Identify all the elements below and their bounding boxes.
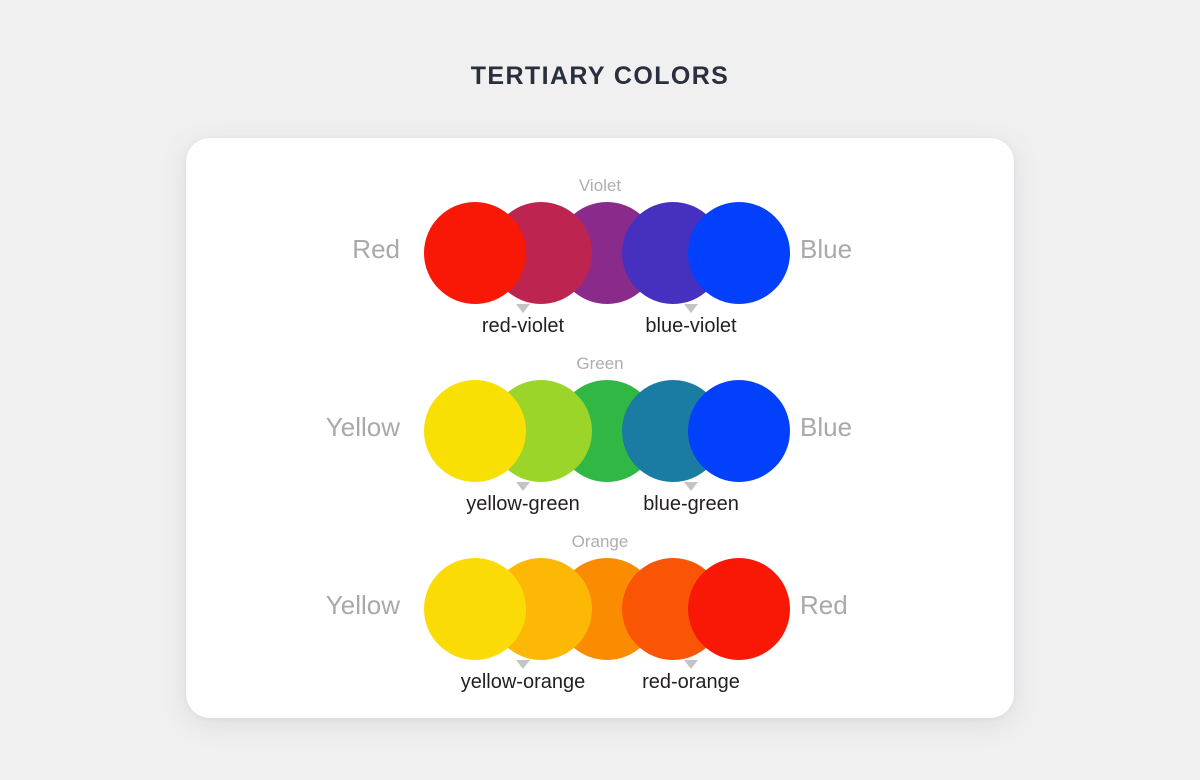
color-wheel-card: Violet Red Blue red-violet blue-violet G… [186, 138, 1014, 718]
callout-label-red-orange: red-orange [576, 671, 806, 694]
swatch-blue[interactable] [688, 202, 790, 304]
arrow-down-icon [516, 660, 530, 669]
secondary-label-orange: Orange [186, 532, 1014, 552]
primary-label-right-blue: Blue [800, 412, 852, 443]
tertiary-row-green: Green Yellow Blue yellow-green blue-gree… [186, 332, 1014, 512]
primary-label-left-yellow: Yellow [326, 590, 400, 621]
primary-label-right-red: Red [800, 590, 848, 621]
arrow-down-icon [516, 304, 530, 313]
swatch-red[interactable] [424, 202, 526, 304]
secondary-label-violet: Violet [186, 176, 1014, 196]
swatch-yellow[interactable] [424, 558, 526, 660]
primary-label-left-yellow: Yellow [326, 412, 400, 443]
arrow-down-icon [684, 304, 698, 313]
tertiary-row-violet: Violet Red Blue red-violet blue-violet [186, 154, 1014, 334]
swatch-yellow[interactable] [424, 380, 526, 482]
swatch-strip-violet [424, 202, 776, 304]
arrow-down-icon [516, 482, 530, 491]
swatch-strip-orange [424, 558, 776, 660]
secondary-label-green: Green [186, 354, 1014, 374]
arrow-down-icon [684, 482, 698, 491]
primary-label-left-red: Red [352, 234, 400, 265]
swatch-strip-green [424, 380, 776, 482]
arrow-down-icon [684, 660, 698, 669]
callout-red-orange: red-orange [576, 660, 806, 694]
swatch-red[interactable] [688, 558, 790, 660]
page-root: TERTIARY COLORS Violet Red Blue red-viol… [0, 0, 1200, 780]
swatch-blue[interactable] [688, 380, 790, 482]
primary-label-right-blue: Blue [800, 234, 852, 265]
tertiary-row-orange: Orange Yellow Red yellow-orange red-oran… [186, 510, 1014, 690]
page-title: TERTIARY COLORS [0, 62, 1200, 91]
